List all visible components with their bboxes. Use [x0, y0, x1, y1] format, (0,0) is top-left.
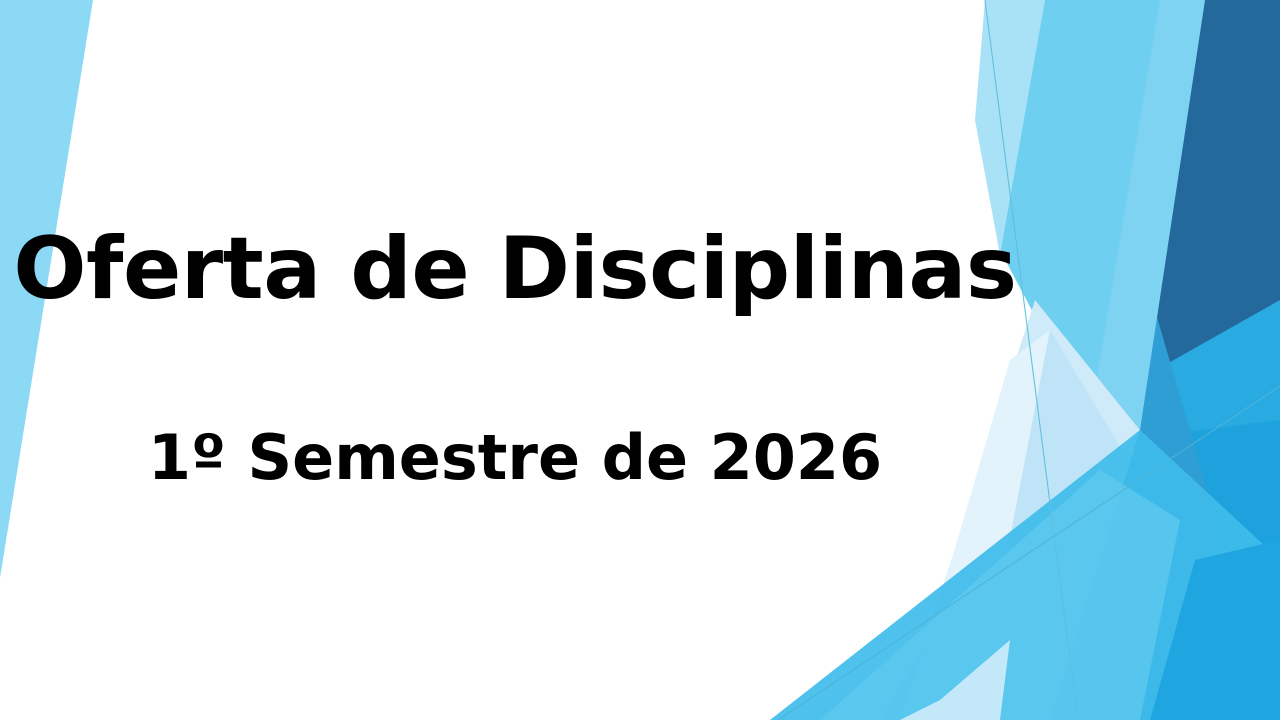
lower-right-azure-secondary [1020, 420, 1280, 720]
right-dark-navy-band [1216, 0, 1280, 330]
bottom-right-azure-column [1150, 540, 1280, 720]
page-title: Oferta de Disciplinas [0, 224, 1030, 314]
right-steel-blue-slab [1060, 0, 1280, 690]
right-azure-sliver [1095, 300, 1216, 720]
title-text-block: Oferta de Disciplinas 1º Semestre de 202… [0, 0, 1030, 720]
presentation-slide: Oferta de Disciplinas 1º Semestre de 202… [0, 0, 1280, 720]
right-deep-navy-triangle [1152, 0, 1280, 520]
page-subtitle: 1º Semestre de 2026 [0, 424, 1030, 492]
